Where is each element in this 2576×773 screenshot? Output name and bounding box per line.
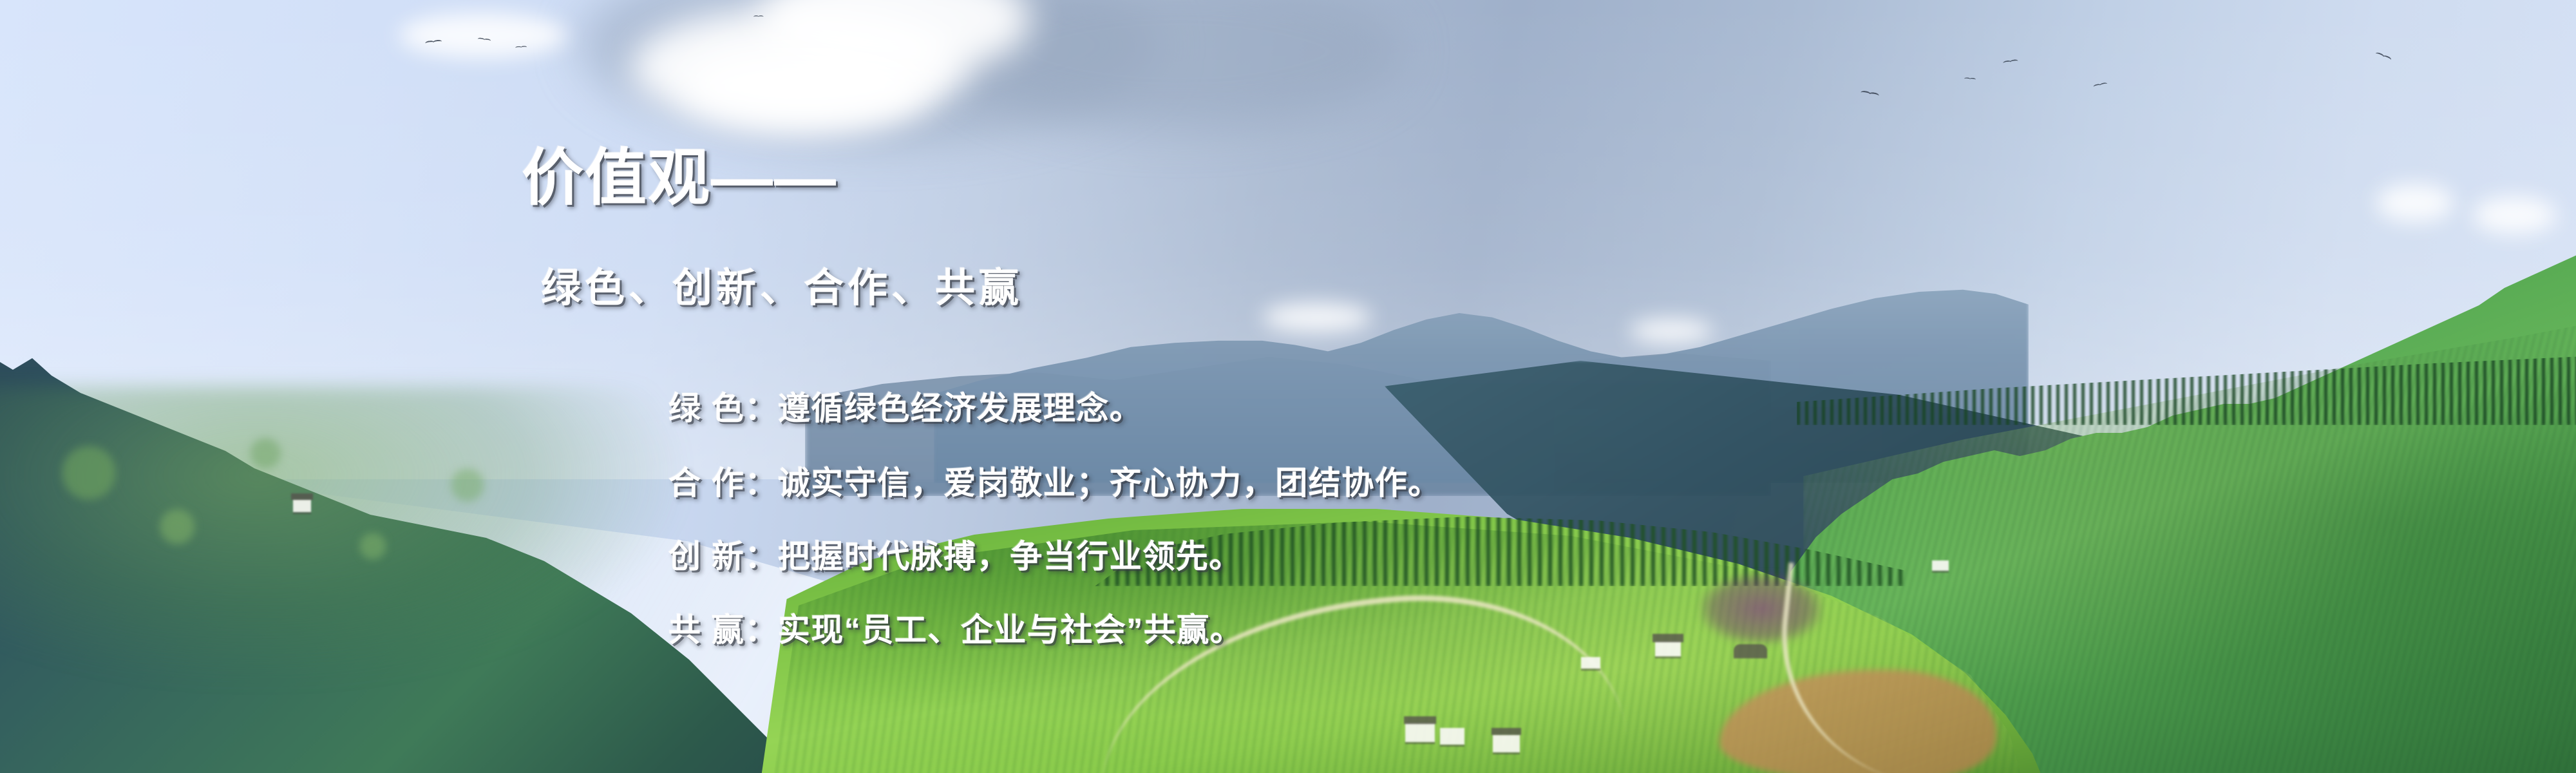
value-line-cooperation: 合 作：诚实守信，爱岗敬业；齐心协力，团结协作。 bbox=[668, 457, 1441, 504]
house bbox=[1581, 657, 1600, 669]
cloud-small-center bbox=[1262, 303, 1372, 332]
cloud-white-low bbox=[683, 45, 927, 129]
house bbox=[1932, 560, 1949, 571]
cloud-white-wisp-left bbox=[399, 13, 567, 58]
page-title: 价值观—— bbox=[522, 128, 837, 217]
house-roof bbox=[1653, 634, 1683, 642]
value-line-innovation: 创 新：把握时代脉搏，争当行业领先。 bbox=[668, 531, 1242, 577]
value-line-green: 绿 色：遵循绿色经济发展理念。 bbox=[668, 383, 1142, 429]
house-roof bbox=[1404, 716, 1436, 724]
house-roof bbox=[1492, 728, 1521, 735]
house bbox=[1493, 734, 1520, 752]
barn bbox=[1734, 644, 1767, 658]
values-subtitle: 绿色、创新、合作、共赢 bbox=[541, 255, 1023, 313]
house bbox=[1655, 641, 1681, 656]
banner-image: 价值观—— 绿色、创新、合作、共赢 绿 色：遵循绿色经济发展理念。 合 作：诚实… bbox=[0, 0, 2576, 773]
left-ridge-trees bbox=[26, 399, 657, 644]
house-roof bbox=[291, 493, 313, 500]
cloud-small-center-b bbox=[1629, 319, 1713, 343]
value-line-winwin: 共 赢：实现“员工、企业与社会”共赢。 bbox=[668, 604, 1243, 651]
cloud-small-right-a bbox=[2376, 184, 2454, 222]
house bbox=[293, 499, 311, 512]
house bbox=[1405, 723, 1435, 742]
cloud-small-right-b bbox=[2473, 196, 2557, 234]
house bbox=[1440, 728, 1464, 745]
